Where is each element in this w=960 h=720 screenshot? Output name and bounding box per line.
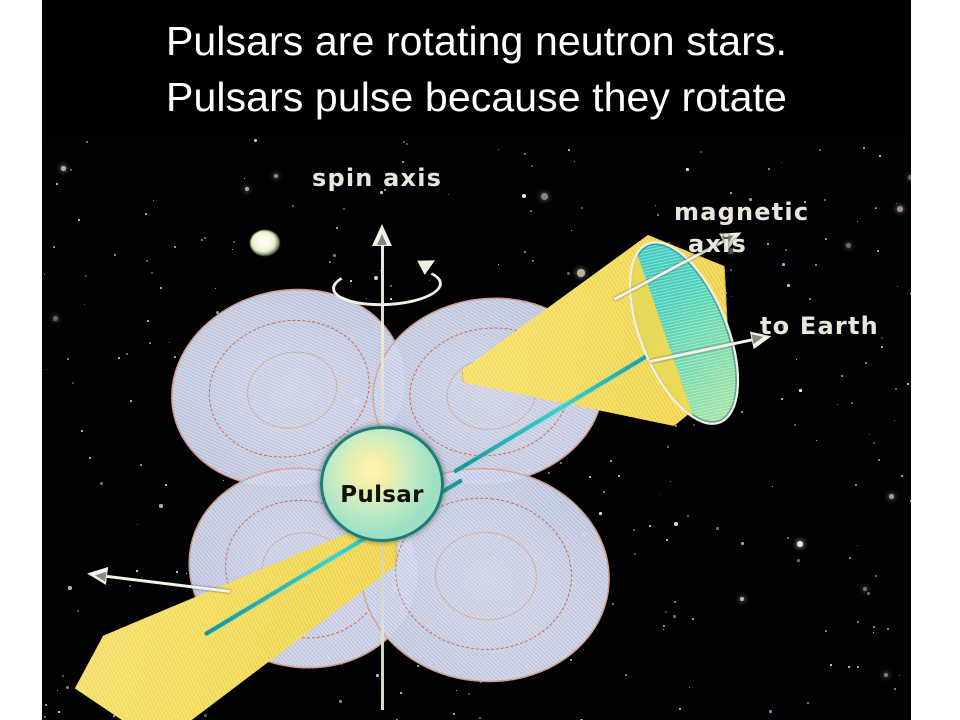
- star: [118, 357, 120, 359]
- star: [730, 192, 732, 194]
- star: [417, 665, 419, 667]
- star: [522, 194, 526, 198]
- star: [848, 666, 850, 668]
- star: [887, 628, 889, 630]
- star: [877, 250, 879, 252]
- star: [174, 356, 176, 358]
- star: [336, 227, 338, 229]
- star: [908, 175, 911, 180]
- star: [881, 346, 883, 348]
- star: [846, 243, 851, 248]
- star: [781, 398, 783, 400]
- star: [649, 525, 651, 527]
- star: [599, 512, 602, 515]
- label-to-earth: to Earth: [760, 312, 879, 340]
- star: [72, 382, 74, 384]
- star: [333, 254, 336, 257]
- star: [825, 238, 827, 240]
- star: [633, 529, 635, 531]
- star: [700, 151, 702, 153]
- star: [85, 275, 87, 277]
- star: [782, 263, 785, 266]
- star: [479, 717, 481, 719]
- star: [689, 687, 690, 688]
- title-band: Pulsars are rotating neutron stars. Puls…: [42, 0, 911, 139]
- star: [851, 402, 853, 404]
- star: [863, 147, 865, 149]
- star: [889, 494, 894, 499]
- star: [468, 693, 470, 695]
- star: [149, 342, 151, 344]
- star: [53, 246, 55, 248]
- star: [44, 716, 46, 718]
- star: [589, 476, 591, 478]
- pulsar-diagram-image: Pulsar spin axis magnetic axis to Earth: [42, 138, 911, 720]
- star: [686, 168, 689, 171]
- star: [666, 539, 667, 540]
- star: [570, 659, 572, 661]
- pulsar-neutron-star-body: Pulsar: [320, 426, 444, 542]
- star: [634, 553, 636, 555]
- star: [618, 475, 620, 477]
- star: [146, 260, 148, 262]
- fuzzy-star-icon: [250, 230, 280, 256]
- star: [692, 618, 694, 620]
- star: [849, 557, 851, 559]
- star: [873, 442, 875, 444]
- star: [147, 320, 149, 322]
- star: [56, 183, 58, 185]
- star: [524, 153, 526, 155]
- star: [873, 626, 875, 628]
- star: [673, 615, 676, 618]
- arrowhead-inner: [94, 570, 106, 581]
- star: [855, 484, 857, 486]
- label-magnetic-axis-line1: magnetic: [674, 198, 809, 226]
- star: [400, 692, 402, 694]
- star: [679, 708, 681, 710]
- star: [830, 664, 832, 666]
- star: [787, 284, 790, 287]
- star: [612, 603, 614, 605]
- star: [910, 292, 911, 295]
- star: [741, 411, 743, 413]
- title-line-1: Pulsars are rotating neutron stars.: [42, 12, 911, 70]
- slide-canvas: Pulsars are rotating neutron stars. Puls…: [0, 0, 960, 720]
- star: [61, 166, 66, 171]
- star: [58, 711, 60, 713]
- star: [548, 472, 550, 474]
- label-spin-axis: spin axis: [312, 164, 442, 192]
- star: [541, 193, 548, 200]
- star: [674, 522, 678, 526]
- star: [568, 149, 570, 151]
- star: [897, 206, 903, 212]
- star: [797, 559, 800, 562]
- star: [894, 688, 896, 690]
- star: [867, 592, 870, 595]
- star: [797, 541, 803, 547]
- star: [741, 542, 744, 545]
- star: [910, 500, 911, 502]
- label-magnetic-axis-line2: axis: [688, 228, 809, 260]
- star: [768, 168, 770, 170]
- star: [530, 210, 532, 212]
- star: [130, 400, 132, 402]
- star: [740, 597, 744, 601]
- star: [233, 241, 235, 243]
- star: [865, 362, 867, 364]
- star: [841, 375, 843, 377]
- star: [453, 713, 455, 715]
- label-magnetic-axis: magnetic axis: [674, 196, 809, 260]
- star: [825, 630, 827, 632]
- pulsar-label: Pulsar: [320, 482, 444, 508]
- star: [857, 621, 859, 623]
- star: [794, 424, 796, 426]
- star: [45, 704, 47, 706]
- star: [799, 389, 802, 392]
- star: [140, 464, 142, 466]
- star: [114, 254, 116, 256]
- star: [716, 527, 719, 530]
- spin-axis-arrowhead-inner: [377, 234, 387, 245]
- title-line-2: Pulsars pulse because they rotate: [42, 68, 911, 126]
- star: [769, 710, 772, 713]
- star: [81, 430, 83, 432]
- star: [603, 491, 605, 493]
- star: [674, 601, 676, 603]
- star: [878, 459, 880, 461]
- star: [625, 674, 627, 676]
